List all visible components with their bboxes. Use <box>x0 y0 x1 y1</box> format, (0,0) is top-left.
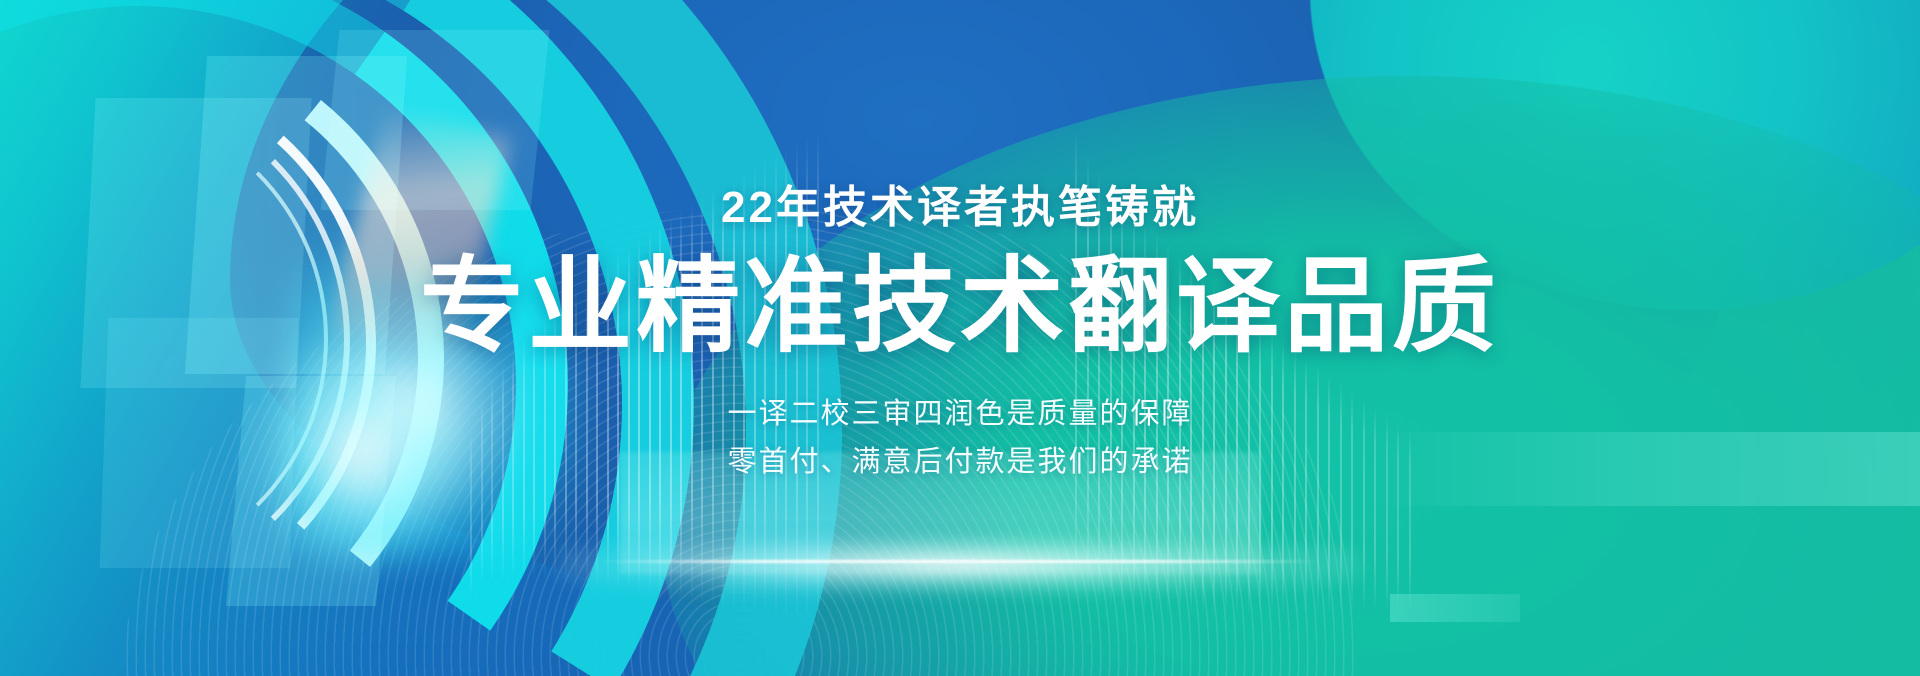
banner-sub-lines: 一译二校三审四润色是质量的保障 零首付、满意后付款是我们的承诺 <box>727 396 1192 481</box>
banner-headline: 专业精准技术翻译品质 <box>420 252 1500 362</box>
banner-sub-line-1: 一译二校三审四润色是质量的保障 <box>727 396 1192 434</box>
banner-copy: 22年技术译者执笔铸就 专业精准技术翻译品质 一译二校三审四润色是质量的保障 零… <box>0 0 1920 676</box>
banner-sub-line-2: 零首付、满意后付款是我们的承诺 <box>727 444 1192 482</box>
hero-banner: 22年技术译者执笔铸就 专业精准技术翻译品质 一译二校三审四润色是质量的保障 零… <box>0 0 1920 676</box>
banner-eyebrow: 22年技术译者执笔铸就 <box>721 186 1199 230</box>
